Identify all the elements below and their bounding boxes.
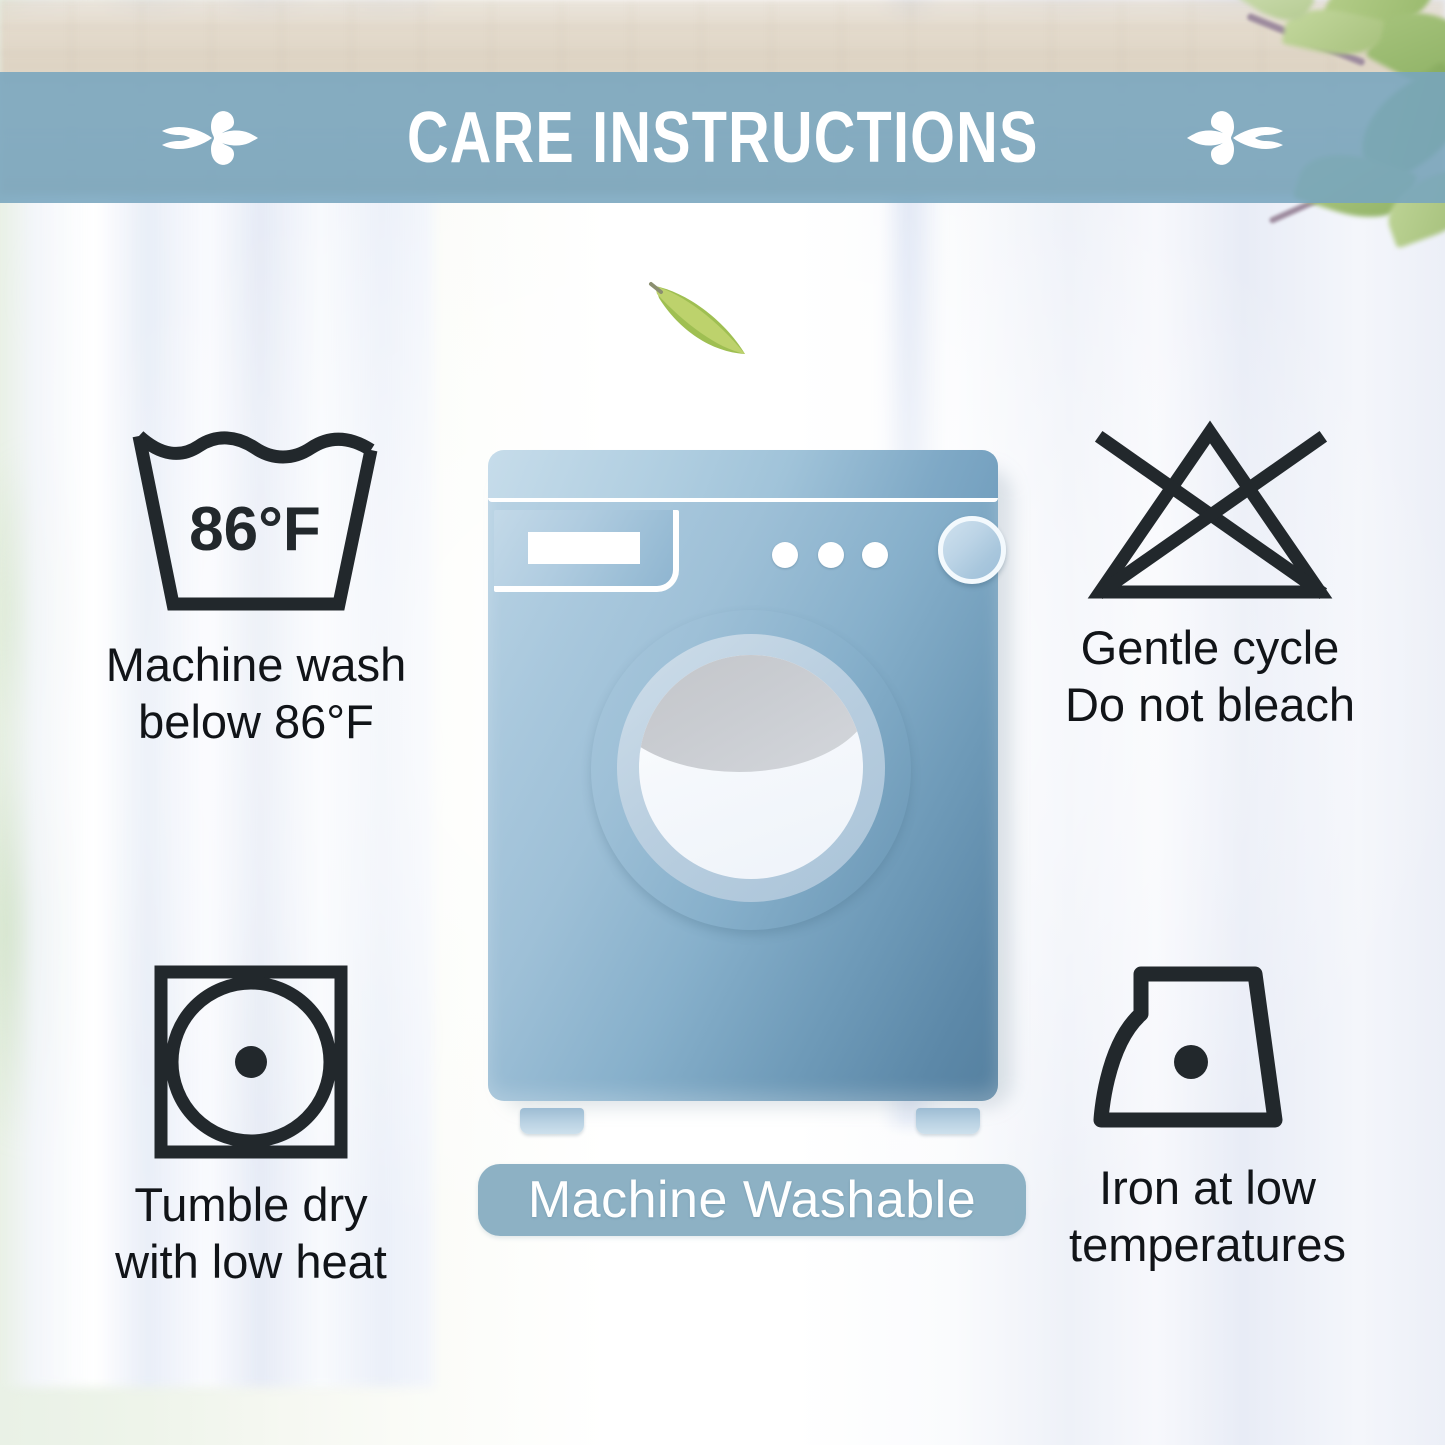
machine-washable-badge: Machine Washable	[478, 1164, 1026, 1236]
iron-low-heat-icon	[1083, 960, 1333, 1145]
machine-foot-right	[916, 1108, 980, 1134]
washing-machine-illustration	[480, 450, 1020, 1122]
care-item-iron-low: Iron at low temperatures	[980, 960, 1435, 1274]
page-title: CARE INSTRUCTIONS	[407, 102, 1039, 174]
machine-top-lid	[488, 450, 998, 502]
floating-leaf-icon	[645, 272, 765, 367]
care-item-caption: Gentle cycle Do not bleach	[1065, 619, 1355, 734]
control-dial-knob	[938, 516, 1006, 584]
tumble-dry-low-icon	[151, 962, 351, 1162]
machine-door-ring	[591, 610, 911, 930]
care-item-tumble-dry: Tumble dry with low heat	[26, 962, 476, 1291]
detergent-drawer	[494, 510, 679, 592]
machine-door-glass	[639, 655, 863, 879]
fleur-de-lis-right-icon	[1171, 94, 1289, 182]
care-item-caption: Iron at low temperatures	[1069, 1159, 1346, 1274]
door-glass-reflection	[639, 655, 863, 799]
header-banner: CARE INSTRUCTIONS	[0, 72, 1445, 203]
machine-foot-left	[520, 1108, 584, 1134]
indicator-led-1	[772, 542, 798, 568]
wash-tub-icon: 86°F	[121, 422, 391, 622]
machine-door-inner-ring	[617, 634, 885, 902]
indicator-led-2	[818, 542, 844, 568]
care-item-machine-wash: 86°F Machine wash below 86°F	[36, 422, 476, 751]
do-not-bleach-triangle-icon	[1080, 420, 1340, 605]
care-instructions-poster: CARE INSTRUCTIONS 86°F Machine wash belo…	[0, 0, 1445, 1445]
fleur-de-lis-left-icon	[156, 94, 274, 182]
wash-temperature-value: 86°F	[189, 495, 321, 564]
care-item-caption: Tumble dry with low heat	[115, 1176, 387, 1291]
badge-label: Machine Washable	[528, 1170, 976, 1230]
indicator-led-3	[862, 542, 888, 568]
detergent-drawer-slot	[528, 532, 640, 564]
care-item-do-not-bleach: Gentle cycle Do not bleach	[985, 420, 1435, 734]
care-item-caption: Machine wash below 86°F	[106, 636, 406, 751]
